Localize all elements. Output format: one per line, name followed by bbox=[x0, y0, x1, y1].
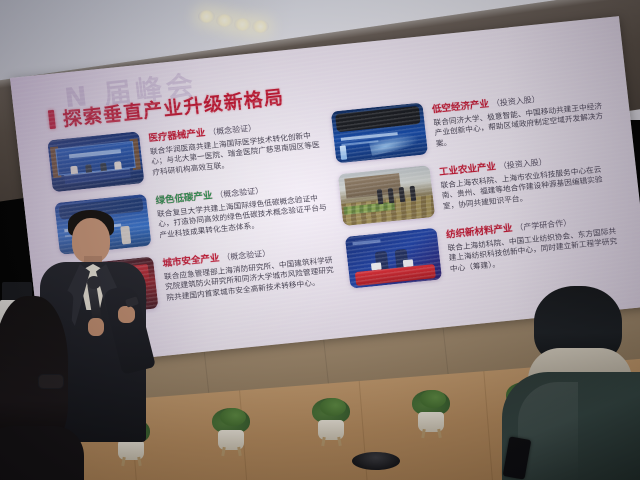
robot-vacuum bbox=[352, 452, 400, 470]
conference-hall-photo: N 届峰会 探索垂直产业升级新格局 bbox=[0, 0, 640, 480]
ceiling-light-4 bbox=[252, 20, 269, 33]
jacket-highlight bbox=[518, 382, 578, 480]
ceiling-light-2 bbox=[216, 14, 233, 27]
ceiling-light-3 bbox=[234, 18, 251, 31]
potted-plant-2 bbox=[212, 398, 250, 456]
audience-left-shoulder bbox=[0, 426, 84, 480]
audience-left-hair bbox=[0, 296, 68, 446]
microphone-head bbox=[87, 276, 101, 289]
presenter-hand-right bbox=[118, 306, 135, 323]
potted-plant-3 bbox=[312, 388, 350, 446]
ceiling-light-1 bbox=[198, 10, 215, 23]
potted-plant-4 bbox=[412, 380, 450, 438]
presenter-hand-left bbox=[88, 318, 104, 336]
eyeglasses bbox=[38, 374, 64, 389]
audience-member-right bbox=[498, 286, 640, 480]
audience-member-left bbox=[0, 296, 72, 480]
